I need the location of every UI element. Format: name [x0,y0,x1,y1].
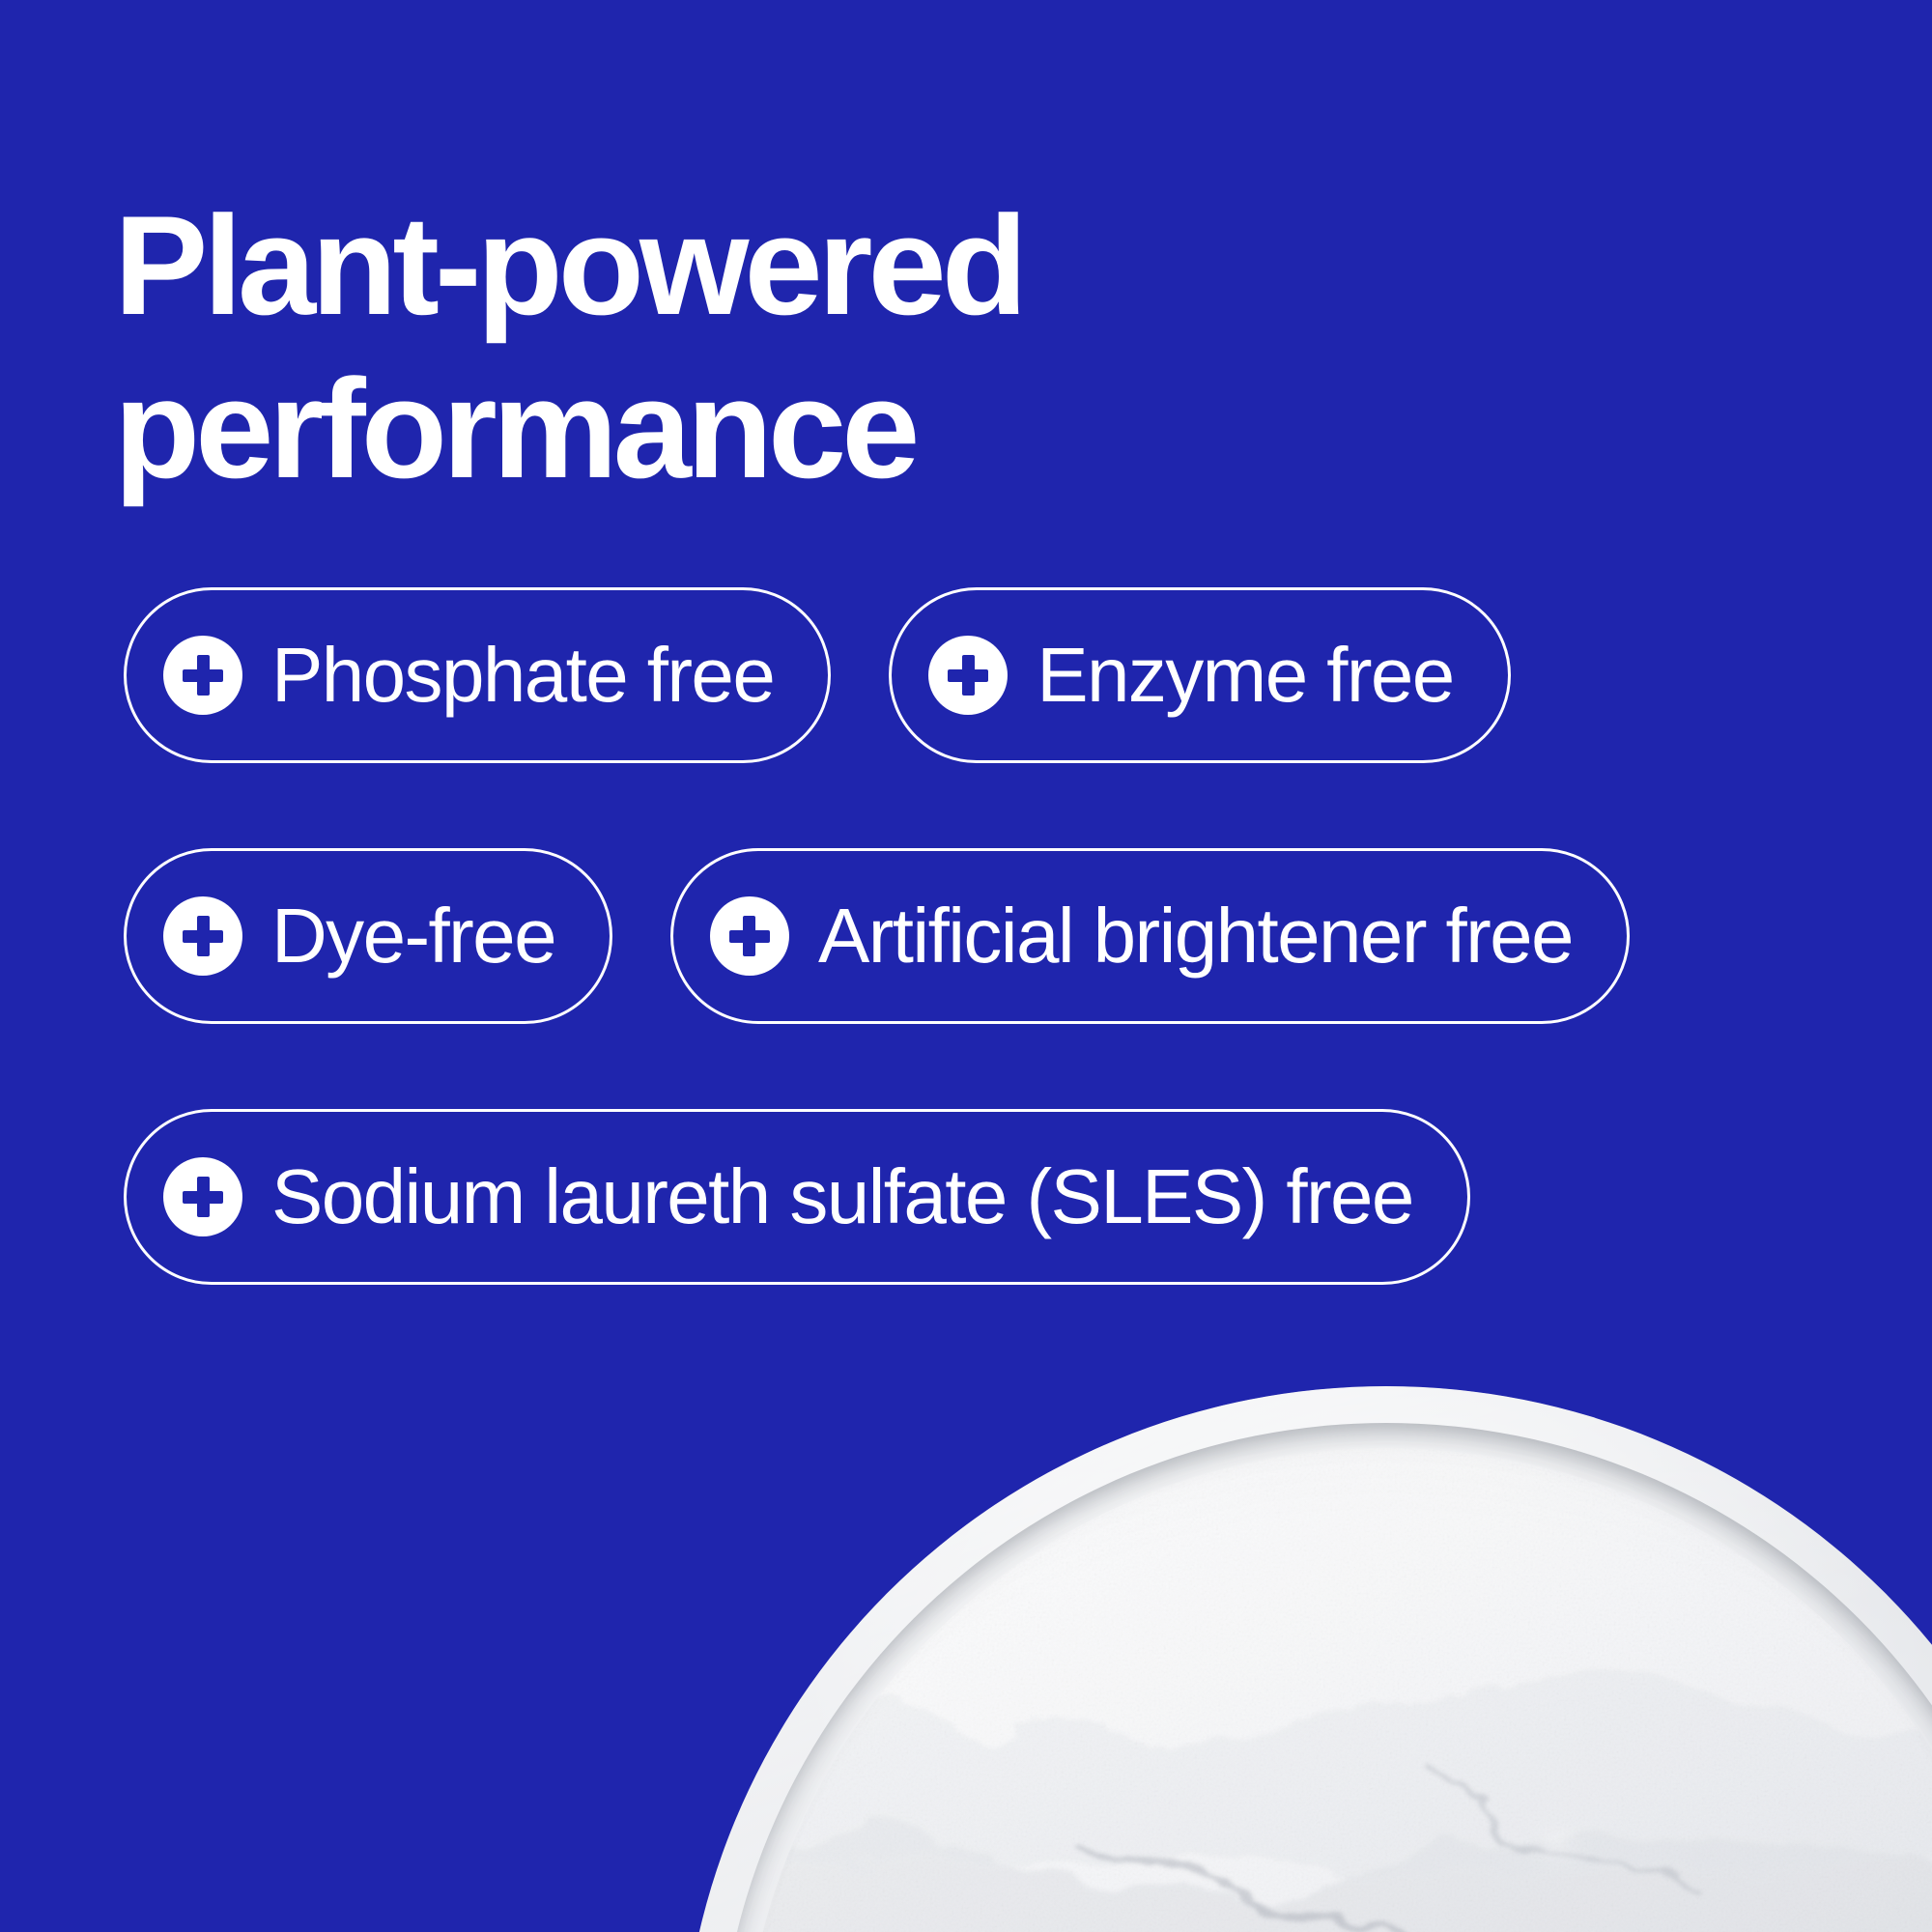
plus-icon [163,1157,242,1236]
page-title: Plant-powered performance [114,184,1466,511]
claims-row: Sodium laureth sulfate (SLES) free [124,1109,1853,1285]
claim-pill-sles-free[interactable]: Sodium laureth sulfate (SLES) free [124,1109,1470,1285]
claims-row: Phosphate free Enzyme free [124,587,1853,763]
claims-row: Dye-free Artificial brightener free [124,848,1853,1024]
claim-pill-label: Phosphate free [271,637,774,714]
claim-pill-artificial-brightener-free[interactable]: Artificial brightener free [670,848,1630,1024]
plus-icon [710,896,789,976]
claims-list: Phosphate free Enzyme free Dye-free Arti… [124,587,1853,1285]
claim-pill-dye-free[interactable]: Dye-free [124,848,612,1024]
claim-pill-enzyme-free[interactable]: Enzyme free [889,587,1510,763]
promo-card: Plant-powered performance Phosphate free… [0,0,1932,1932]
powder-texture [743,1448,1932,1932]
claim-pill-label: Dye-free [271,897,555,975]
claim-pill-label: Artificial brightener free [818,897,1573,975]
claim-pill-phosphate-free[interactable]: Phosphate free [124,587,831,763]
plus-icon [163,636,242,715]
plus-icon [163,896,242,976]
claim-pill-label: Sodium laureth sulfate (SLES) free [271,1158,1413,1236]
powder-bowl [681,1386,1932,1932]
plus-icon [928,636,1008,715]
claim-pill-label: Enzyme free [1037,637,1453,714]
